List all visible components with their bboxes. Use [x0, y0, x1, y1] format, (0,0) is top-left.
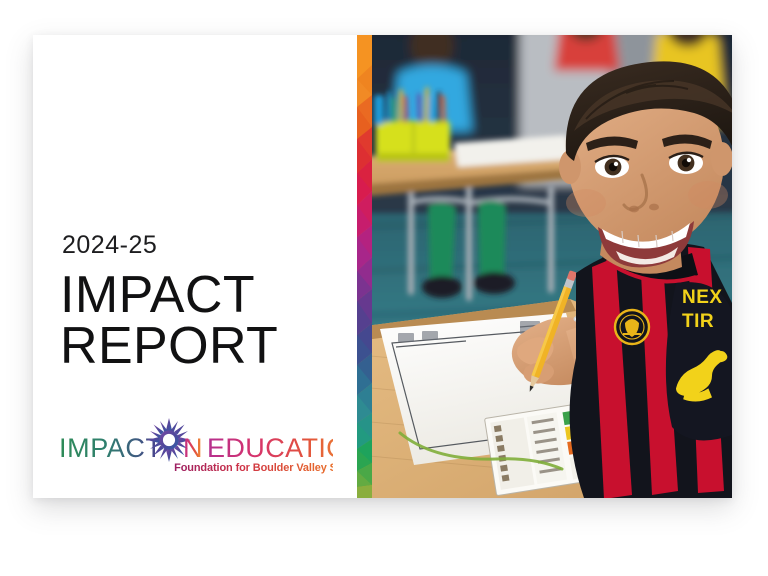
report-year-label: 2024-25	[62, 233, 157, 258]
club-crest-badge	[615, 310, 649, 344]
cover-card: 2024-25 IMPACT REPORT	[33, 35, 732, 498]
logo-word-education: EDUCATION	[207, 433, 333, 463]
report-cover-page: 2024-25 IMPACT REPORT	[0, 0, 768, 576]
impact-on-education-logo: IMPACT	[57, 417, 333, 479]
cover-photo-panel: Young boy in a red and black striped soc…	[357, 35, 732, 498]
jersey-sponsor-line1: NEX	[682, 287, 723, 308]
classroom-photo: Young boy in a red and black striped soc…	[370, 35, 732, 498]
logo-word-on-suffix: N	[183, 433, 203, 463]
jersey-sponsor-line2: TIR	[682, 311, 714, 332]
cover-text-panel: 2024-25 IMPACT REPORT	[33, 35, 357, 498]
faceted-rainbow-stripe	[357, 35, 372, 498]
logo-word-impact: IMPACT	[59, 433, 163, 463]
title-line-impact: IMPACT	[60, 270, 278, 321]
logo-tagline: Foundation for Boulder Valley Schools	[174, 462, 333, 474]
title-line-report: REPORT	[60, 321, 278, 372]
page-title: IMPACT REPORT	[60, 270, 278, 373]
